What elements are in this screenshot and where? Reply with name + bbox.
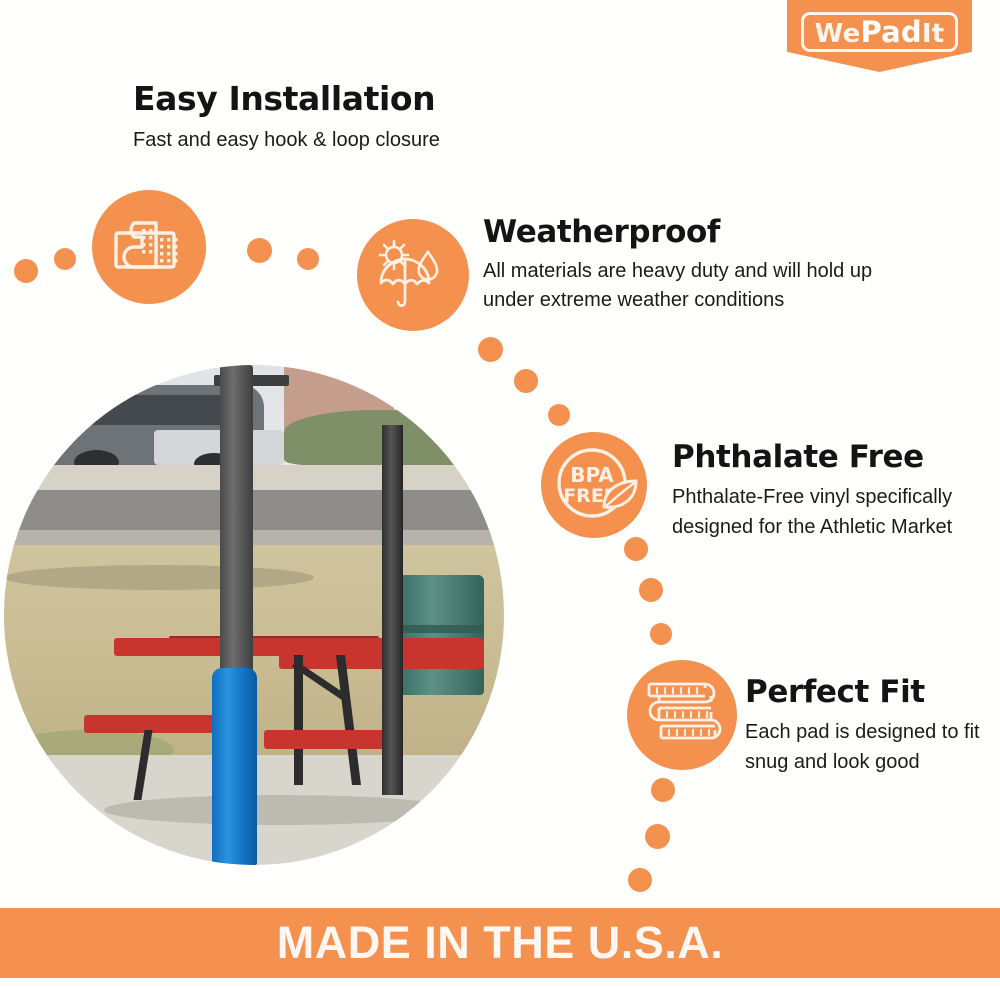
made-in-usa-banner: MADE IN THE U.S.A. bbox=[0, 908, 1000, 978]
feature-description: Fast and easy hook & loop closure bbox=[133, 126, 440, 154]
path-dot bbox=[639, 578, 663, 602]
feature-description: Each pad is designed to fit snug and loo… bbox=[745, 717, 985, 777]
path-dot bbox=[628, 868, 652, 892]
photo-table-leg bbox=[294, 655, 303, 785]
measuring-tape-icon bbox=[627, 660, 737, 770]
logo-text-pad: Pad bbox=[860, 15, 921, 49]
path-dot bbox=[247, 238, 272, 263]
feature-block-weatherproof: Weatherproof All materials are heavy dut… bbox=[483, 212, 903, 315]
photo-building-secondary bbox=[394, 365, 504, 415]
photo-trash-barrel bbox=[399, 575, 484, 695]
path-dot bbox=[54, 248, 76, 270]
feature-block-phthalate-free: Phthalate Free Phthalate-Free vinyl spec… bbox=[672, 437, 972, 542]
bpa-free-leaf-icon: BPA FREE bbox=[541, 432, 647, 538]
path-dot bbox=[14, 259, 38, 283]
logo-text-it: It bbox=[922, 19, 945, 49]
path-dot bbox=[650, 623, 672, 645]
logo-text-we: We bbox=[815, 19, 861, 49]
product-photo bbox=[4, 365, 504, 865]
bpa-label: BPA bbox=[570, 463, 614, 487]
hook-and-loop-icon bbox=[92, 190, 206, 304]
photo-ground-shadow bbox=[104, 795, 454, 825]
photo-trash-barrel-band bbox=[399, 625, 484, 633]
logo-wordmark: WePadIt bbox=[815, 18, 945, 47]
path-dot bbox=[624, 537, 648, 561]
photo-road bbox=[4, 490, 504, 535]
feature-title: Weatherproof bbox=[483, 212, 903, 252]
feature-description: All materials are heavy duty and will ho… bbox=[483, 257, 903, 315]
feature-block-perfect-fit: Perfect Fit Each pad is designed to fit … bbox=[745, 672, 985, 777]
sun-umbrella-raindrop-icon bbox=[357, 219, 469, 331]
feature-title: Easy Installation bbox=[133, 78, 440, 120]
photo-right-pole bbox=[382, 425, 403, 795]
feature-block-easy-installation: Easy Installation Fast and easy hook & l… bbox=[133, 78, 440, 154]
path-dot bbox=[645, 824, 670, 849]
banner-text: MADE IN THE U.S.A. bbox=[277, 917, 724, 969]
photo-bench-right bbox=[264, 730, 394, 749]
infographic-page: WePadIt bbox=[0, 0, 1000, 987]
photo-metal-pole bbox=[220, 365, 253, 680]
logo-inner-border: WePadIt bbox=[801, 12, 958, 52]
feature-title: Phthalate Free bbox=[672, 437, 972, 477]
feature-title: Perfect Fit bbox=[745, 672, 985, 712]
photo-scene bbox=[4, 365, 504, 865]
photo-curb bbox=[4, 465, 504, 490]
path-dot bbox=[514, 369, 538, 393]
path-dot bbox=[548, 404, 570, 426]
path-dot bbox=[651, 778, 675, 802]
photo-grass-shading bbox=[4, 565, 314, 590]
path-dot bbox=[297, 248, 319, 270]
photo-blue-pole-pad bbox=[212, 668, 257, 866]
photo-suv-window bbox=[69, 395, 234, 425]
feature-description: Phthalate-Free vinyl specifically design… bbox=[672, 482, 972, 542]
brand-logo: WePadIt bbox=[787, 0, 972, 72]
path-dot bbox=[478, 337, 503, 362]
